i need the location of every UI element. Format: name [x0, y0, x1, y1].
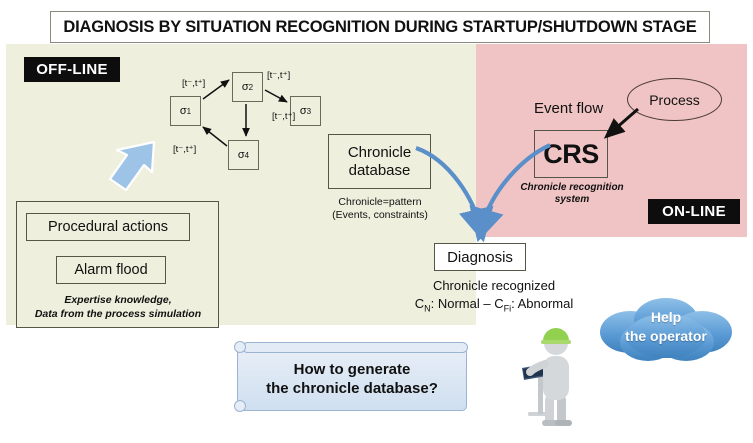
chronicle-database-line1: Chronicle: [348, 144, 411, 161]
graph-edge-label-1: [t⁻,t⁺]: [182, 78, 205, 89]
graph-node-sigma-1-base: σ: [180, 105, 187, 117]
scroll-curl-top-left-icon: [234, 341, 246, 353]
alarm-flood-box: Alarm flood: [56, 256, 166, 284]
scroll-curl-bottom-left-icon: [234, 400, 246, 412]
question-banner-body: How to generate the chronicle database?: [237, 347, 467, 411]
graph-node-sigma-3-base: σ: [300, 105, 307, 117]
help-cloud: Help the operator: [594, 292, 738, 366]
graph-edge-label-4: [t⁻,t⁺]: [173, 144, 196, 155]
graph-edge-label-2: [t⁻,t⁺]: [267, 70, 290, 81]
normal-class-symbol: C: [415, 296, 424, 311]
procedural-actions-box: Procedural actions: [26, 213, 190, 241]
graph-node-sigma-2: σ2: [232, 72, 263, 102]
normal-class-text: : Normal –: [431, 296, 495, 311]
graph-node-sigma-4: σ4: [228, 140, 259, 170]
diagnosis-box-label: Diagnosis: [447, 249, 513, 266]
flow-arrows-to-diagnosis: [410, 140, 610, 250]
abnormal-class-text: : Abnormal: [511, 296, 573, 311]
alarm-flood-label: Alarm flood: [74, 262, 147, 278]
expertise-caption: Expertise knowledge, Data from the proce…: [20, 294, 216, 321]
chronicle-recognized-label: Chronicle recognized: [404, 278, 584, 294]
online-badge: ON-LINE: [648, 199, 740, 224]
graph-node-sigma-4-base: σ: [238, 149, 245, 161]
question-banner-top-strip: [242, 342, 468, 353]
question-banner-line2: the chronicle database?: [266, 379, 438, 399]
process-label: Process: [649, 92, 700, 108]
blue-arrow-icon: [96, 138, 158, 200]
expertise-caption-line2: Data from the process simulation: [20, 308, 216, 322]
graph-node-sigma-4-sub: 4: [245, 151, 249, 160]
offline-badge: OFF-LINE: [24, 57, 120, 82]
abnormal-class-symbol: C: [494, 296, 503, 311]
chronicle-automaton-graph: σ1 σ2 σ3 σ4 [t⁻,t⁺] [t⁻,t⁺] [t⁻,t⁺] [t⁻,…: [160, 64, 340, 179]
help-cloud-line1: Help: [594, 308, 738, 327]
graph-edge-label-3: [t⁻,t⁺]: [272, 111, 295, 122]
graph-node-sigma-2-sub: 2: [249, 83, 253, 92]
offline-badge-label: OFF-LINE: [36, 61, 108, 78]
graph-node-sigma-1: σ1: [170, 96, 201, 126]
diagram-canvas: DIAGNOSIS BY SITUATION RECOGNITION DURIN…: [0, 0, 753, 443]
online-badge-label: ON-LINE: [662, 203, 726, 220]
diagram-title-text: DIAGNOSIS BY SITUATION RECOGNITION DURIN…: [63, 18, 696, 37]
chronicle-database-line2: database: [348, 162, 411, 179]
question-banner: How to generate the chronicle database?: [232, 338, 472, 416]
abnormal-class-subscript: Fi: [504, 304, 512, 314]
graph-node-sigma-2-base: σ: [242, 81, 249, 93]
diagnosis-box: Diagnosis: [434, 243, 526, 271]
graph-node-sigma-1-sub: 1: [187, 107, 191, 116]
procedural-actions-label: Procedural actions: [48, 219, 168, 235]
graph-node-sigma-3-sub: 3: [307, 107, 311, 116]
operator-figure-icon: [512, 312, 590, 430]
help-cloud-text: Help the operator: [594, 308, 738, 346]
question-banner-line1: How to generate: [266, 360, 438, 380]
expertise-caption-line1: Expertise knowledge,: [20, 294, 216, 308]
help-cloud-line2: the operator: [594, 327, 738, 346]
diagram-title: DIAGNOSIS BY SITUATION RECOGNITION DURIN…: [50, 11, 710, 43]
